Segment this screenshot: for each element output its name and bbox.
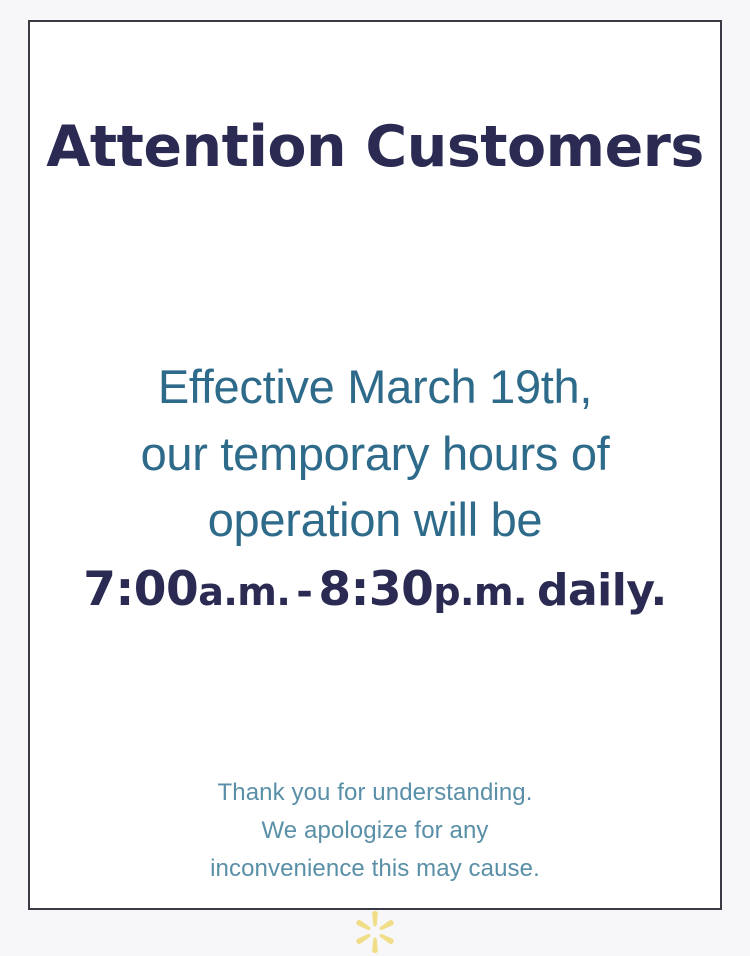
store-hours: 7:00a.m.-8:30p.m.daily. <box>30 562 720 617</box>
notice-message-line-3: operation will be <box>30 487 720 554</box>
notice-message: Effective March 19th, our temporary hour… <box>30 354 720 554</box>
notice-message-line-2: our temporary hours of <box>30 421 720 488</box>
sign-content: Attention Customers Effective March 19th… <box>30 22 720 908</box>
apology-note-line-3: inconvenience this may cause. <box>30 850 720 888</box>
apology-note-line-1: Thank you for understanding. <box>30 774 720 812</box>
sign-frame: Attention Customers Effective March 19th… <box>28 20 722 910</box>
notice-message-line-1: Effective March 19th, <box>30 354 720 421</box>
closing-meridiem: p.m. <box>433 570 527 614</box>
closing-time: 8:30 <box>318 562 433 617</box>
opening-time: 7:00 <box>83 562 198 617</box>
sign-background: Attention Customers Effective March 19th… <box>0 0 750 948</box>
opening-meridiem: a.m. <box>198 570 290 614</box>
page-title: Attention Customers <box>30 118 720 178</box>
hours-frequency: daily. <box>527 565 667 616</box>
walmart-spark-icon <box>351 908 399 956</box>
apology-note-line-2: We apologize for any <box>30 812 720 850</box>
hours-separator: - <box>290 569 318 615</box>
apology-note: Thank you for understanding. We apologiz… <box>30 774 720 888</box>
